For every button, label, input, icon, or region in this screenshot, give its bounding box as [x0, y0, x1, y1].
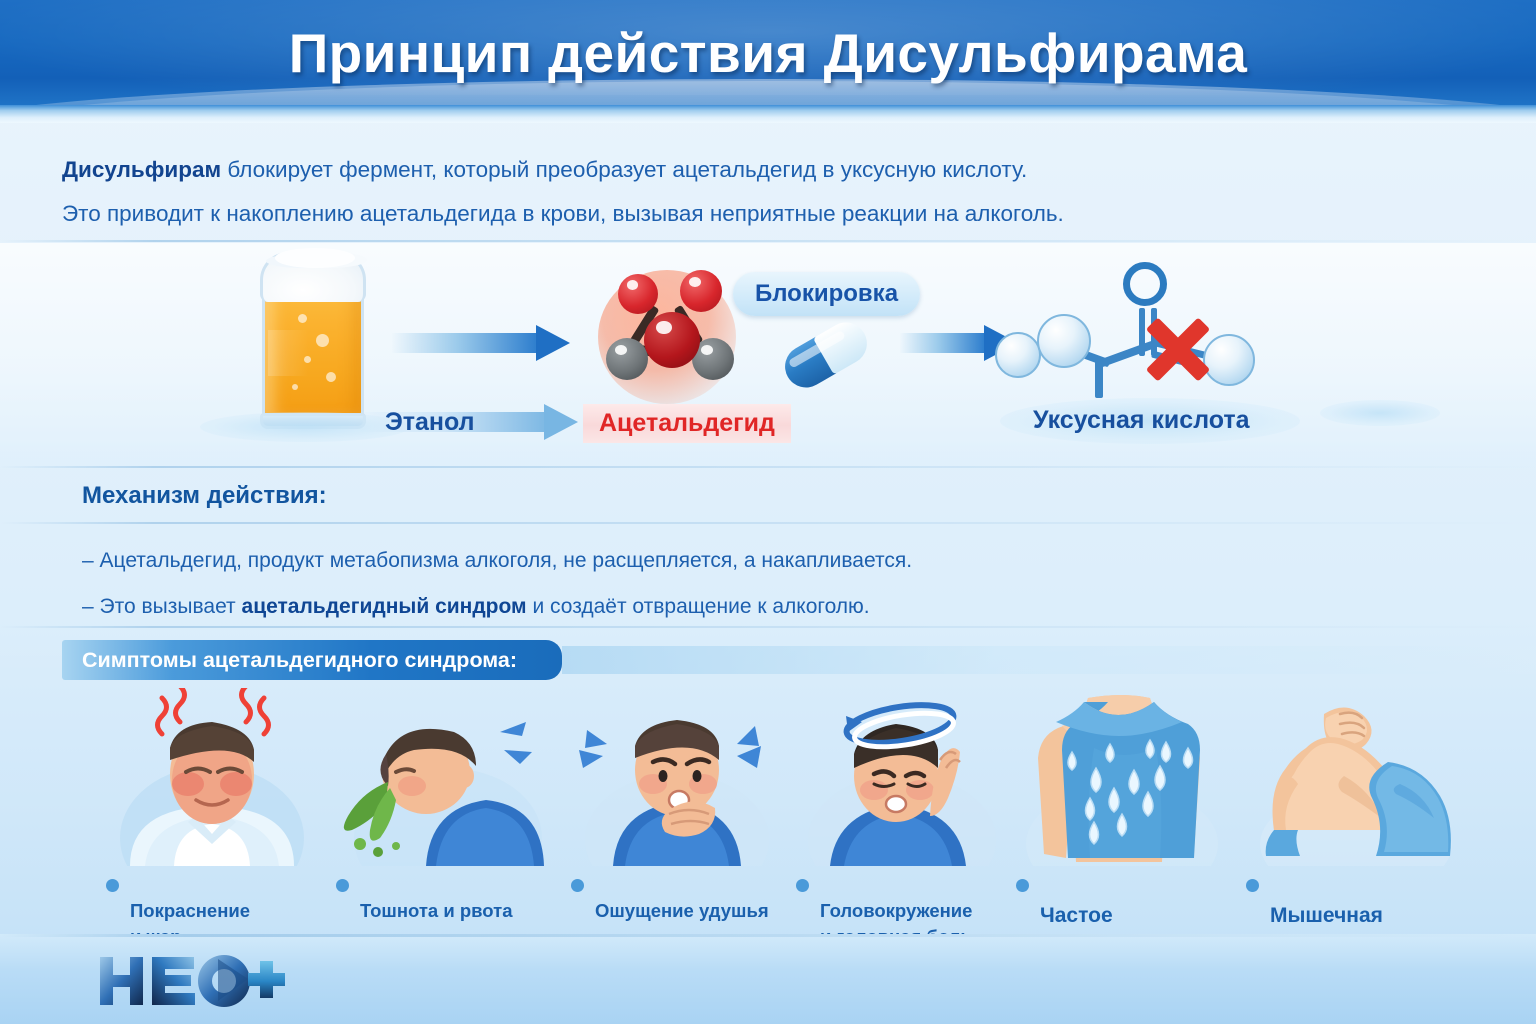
- carbon-ball: [1037, 314, 1091, 368]
- mechanism-item-suffix: и создаёт отвращение к алкоголю.: [527, 595, 870, 618]
- page-footer: [0, 934, 1536, 1024]
- decorative-puddle: [1320, 400, 1440, 426]
- arrow-head: [544, 404, 578, 440]
- arrow-shaft: [392, 333, 536, 353]
- mechanism-item-text: – Ацетальдегид, продукт метабопизма алко…: [82, 549, 912, 572]
- symptom-item: Ошущение удушья: [565, 688, 795, 928]
- symptoms-row: Покраснение и жар: [0, 688, 1536, 928]
- bullet-dot: [571, 879, 584, 892]
- mechanism-item-emphasis: ацетальдегидный синдром: [242, 595, 527, 618]
- symptom-label-text: Тошнота и рвота: [360, 900, 513, 921]
- intro-drug-name: Дисульфирам: [62, 157, 221, 182]
- beer-bubble: [292, 384, 298, 390]
- mechanism-list: – Ацетальдегид, продукт метабопизма алко…: [82, 538, 1282, 630]
- symptom-item: Мышечная слабость: [1240, 688, 1470, 928]
- carbonyl-oxygen-ring: [1123, 262, 1167, 306]
- symptom-label-text: Ошущение удушья: [595, 900, 769, 921]
- beer-foam: [260, 252, 366, 302]
- neo-plus-logo: [96, 956, 286, 1006]
- red-x-icon: [1141, 312, 1215, 386]
- intro-text-block: Дисульфирам блокирует фермент, который п…: [62, 148, 1302, 236]
- beer-glass-icon: [258, 252, 368, 427]
- header-gradient-band: [0, 105, 1536, 123]
- flushed-face-icon: [100, 688, 330, 866]
- symptoms-banner-fade: [562, 646, 1536, 674]
- mechanism-item-prefix: – Это вызывает: [82, 595, 242, 618]
- sweating-torso-icon: [1010, 688, 1240, 866]
- arrow-ethanol-to-acetaldehyde: [392, 325, 570, 361]
- divider-under-intro: [0, 240, 1536, 242]
- bullet-dot: [796, 879, 809, 892]
- oxygen-atom: [618, 274, 658, 314]
- bullet-dot: [1016, 879, 1029, 892]
- block-badge: Блокировка: [733, 272, 920, 316]
- symptom-label: Тошнота и рвота: [336, 872, 564, 924]
- ethanol-label: Этанол: [385, 408, 475, 437]
- page-header: Принцип действия Дисульфирама: [0, 0, 1536, 105]
- hydrogen-ball: [995, 332, 1041, 378]
- acetaldehyde-molecule-icon: [580, 262, 760, 412]
- arrow-shaft: [900, 333, 984, 353]
- divider-under-mechanism-heading: [0, 522, 1536, 524]
- intro-line-2: Это приводит к накоплению ацетальдегида …: [62, 192, 1302, 236]
- mechanism-item: – Ацетальдегид, продукт метабопизма алко…: [82, 538, 1282, 584]
- methyl-stub: [1095, 358, 1103, 398]
- symptom-item: Тошнота и рвота: [330, 688, 560, 928]
- intro-line-1: Дисульфирам блокирует фермент, который п…: [62, 148, 1302, 192]
- choking-icon: [565, 688, 795, 866]
- carbon-atom: [606, 338, 648, 380]
- beer-bubble: [298, 314, 307, 323]
- divider-above-mechanism: [0, 466, 1536, 468]
- symptom-item: Покраснение и жар: [100, 688, 330, 928]
- acetic-acid-label: Уксусная кислота: [1033, 406, 1250, 435]
- oxygen-atom: [680, 270, 722, 312]
- bullet-dot: [106, 879, 119, 892]
- bullet-dot: [1246, 879, 1259, 892]
- acetaldehyde-label: Ацетальдегид: [583, 404, 791, 443]
- mechanism-item: – Это вызывает ацетальдегидный синдром и…: [82, 584, 1282, 630]
- page-title: Принцип действия Дисульфирама: [0, 0, 1536, 105]
- symptoms-banner: Симптомы ацетальдегидного синдрома:: [62, 640, 562, 680]
- footer-divider: [0, 934, 1536, 937]
- vomiting-icon: [330, 688, 560, 866]
- arrow-head: [536, 325, 570, 361]
- mechanism-heading: Механизм действия:: [82, 482, 327, 510]
- dizziness-icon: [790, 688, 1020, 866]
- beer-bubble: [316, 334, 329, 347]
- acetic-acid-structure-icon: [995, 262, 1280, 402]
- beer-bubble: [326, 372, 336, 382]
- central-atom: [644, 312, 700, 368]
- bullet-dot: [336, 879, 349, 892]
- divider-above-symptoms: [0, 626, 1536, 628]
- symptom-item: Головокружение и головная боль: [790, 688, 1020, 928]
- beer-bubble: [304, 356, 311, 363]
- intro-line-1-rest: блокирует фермент, который преобразует а…: [221, 157, 1027, 182]
- symptom-item: Частое сердцебиение: [1010, 688, 1240, 928]
- symptom-label: Ошущение удушья: [571, 872, 799, 924]
- flexed-bicep-icon: [1240, 688, 1470, 866]
